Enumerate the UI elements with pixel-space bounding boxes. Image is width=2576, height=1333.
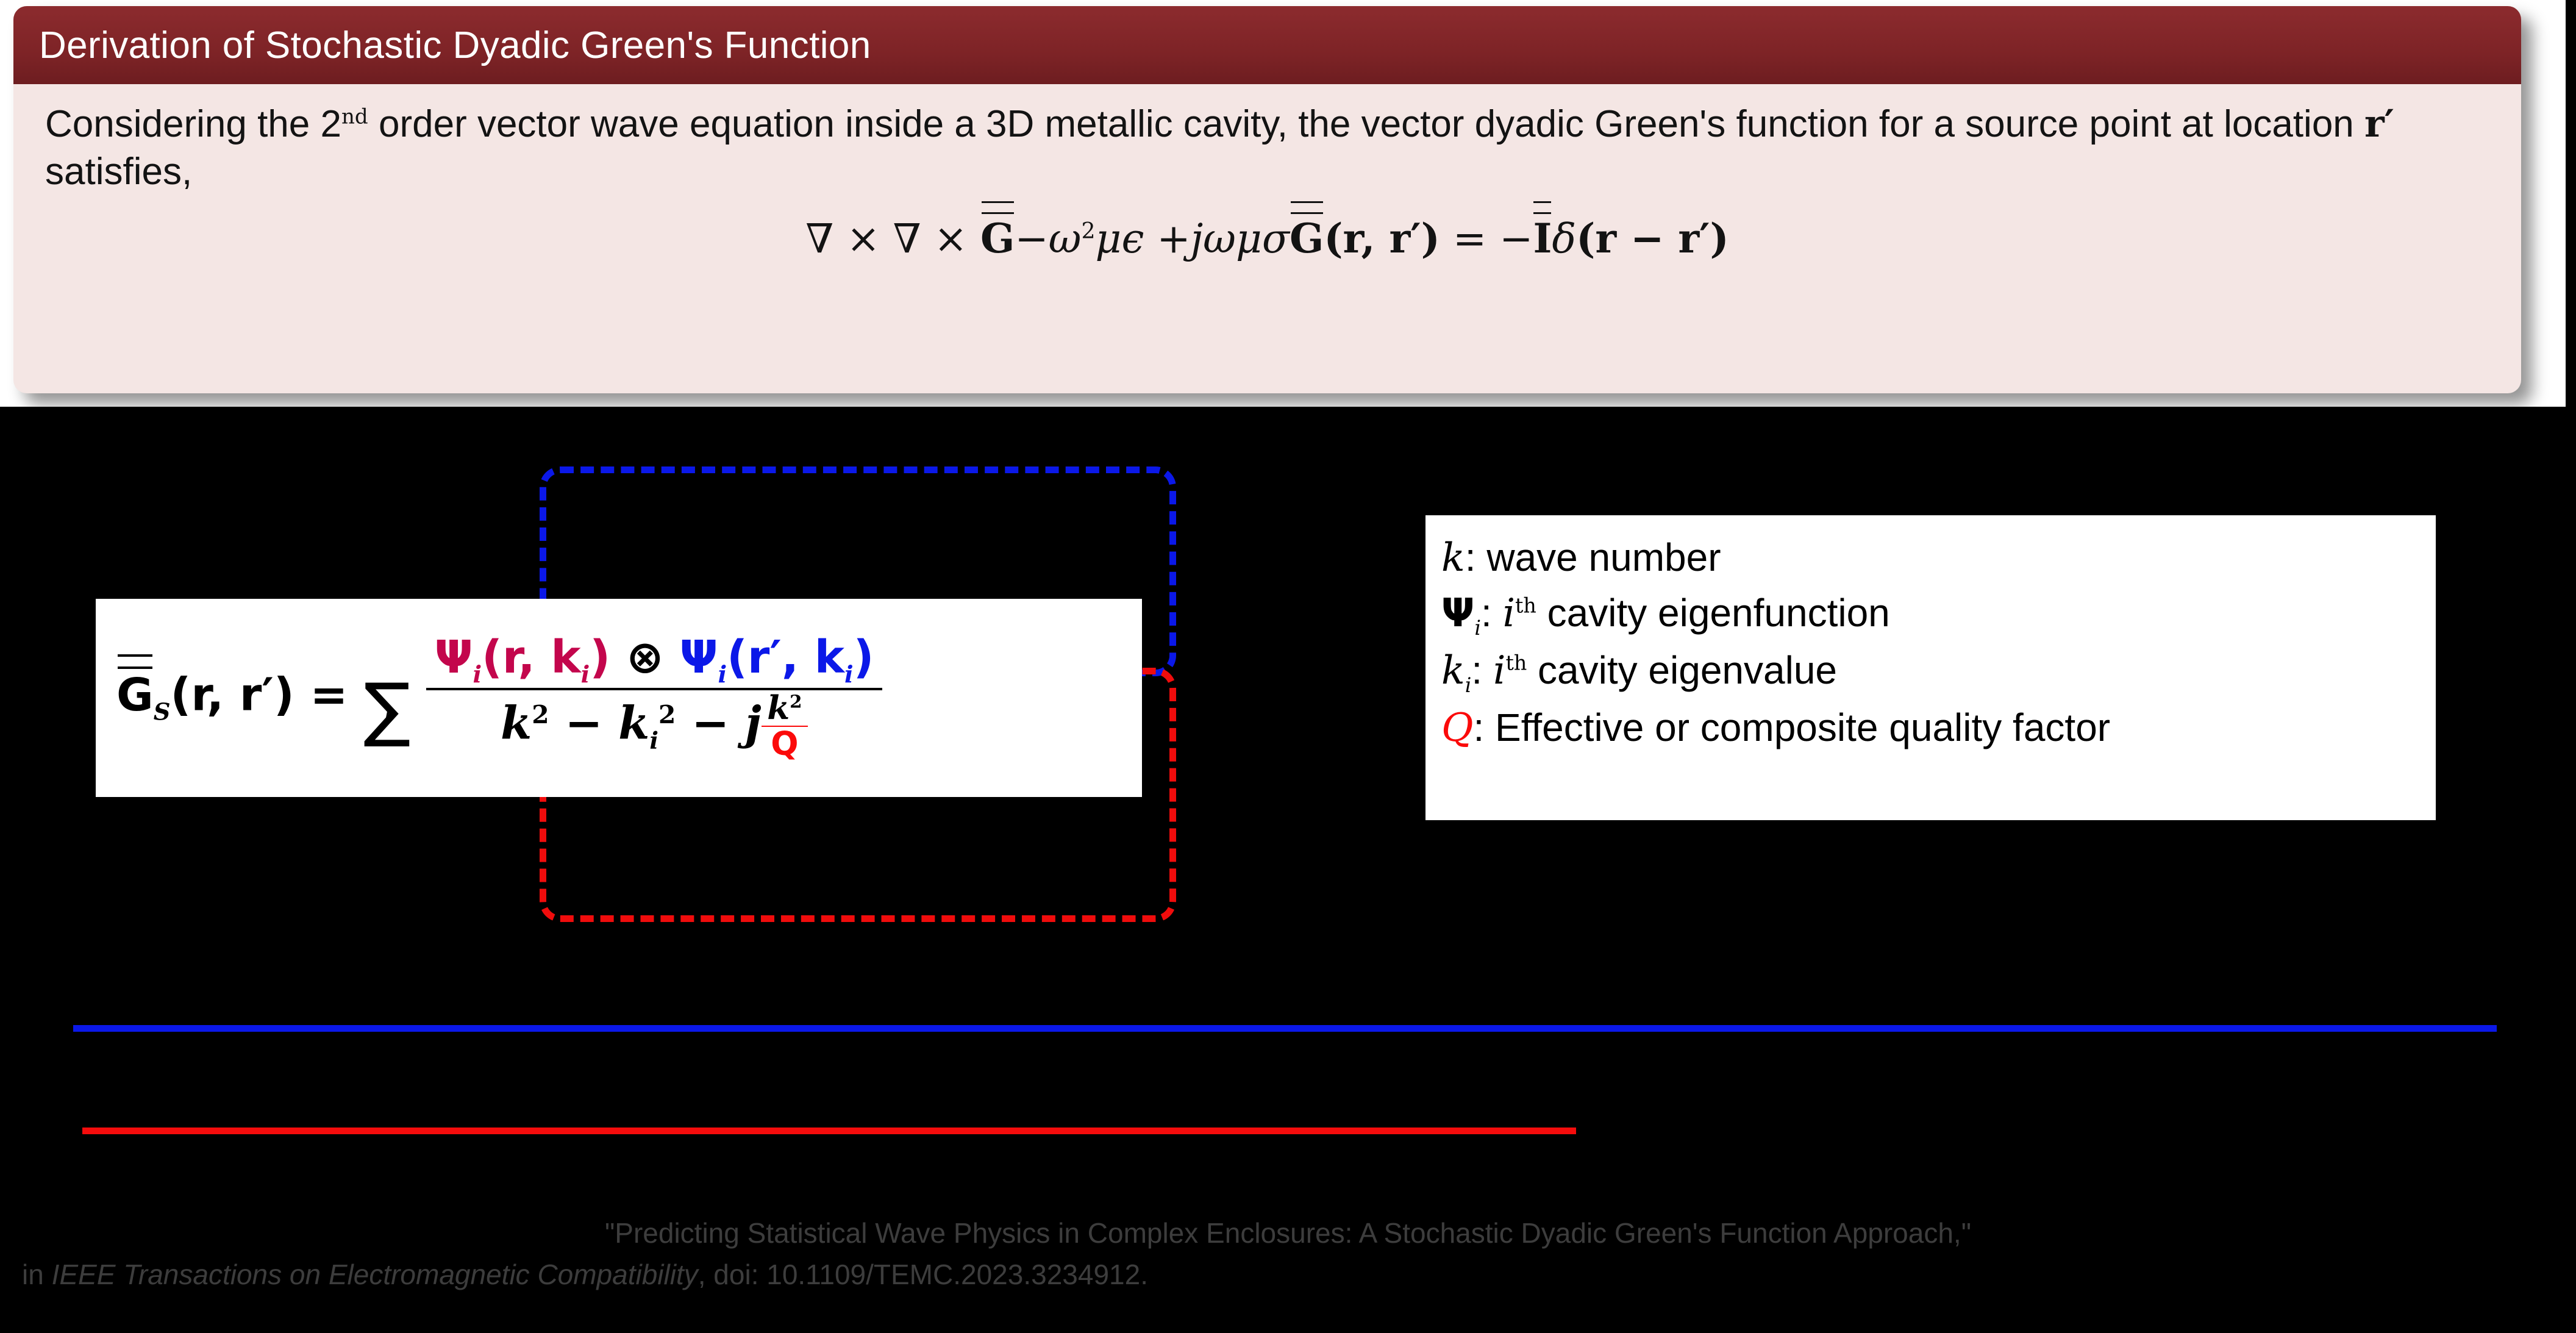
mu-epsilon: μϵ (1096, 215, 1144, 262)
legend-psi-index: i (1503, 591, 1515, 636)
rhs-sign: − (1499, 215, 1533, 262)
source-point-symbol: r′ (2364, 101, 2394, 146)
callout-header: Derivation of Stochastic Dyadic Green's … (13, 6, 2521, 84)
citation-title: "Predicting Statistical Wave Physics in … (0, 1217, 2576, 1249)
psi-right-subscript: i (718, 661, 727, 688)
callout-title: Derivation of Stochastic Dyadic Green's … (39, 24, 871, 67)
citation-journal: IEEE Transactions on Electromagnetic Com… (52, 1259, 698, 1290)
omega-symbol: ω (1049, 215, 1082, 262)
quality-factor-symbol: Q (762, 726, 808, 762)
curl-operator: ∇ × ∇ × (805, 215, 968, 262)
callout-block: Derivation of Stochastic Dyadic Green's … (13, 6, 2521, 393)
main-equation-equals: = (310, 669, 348, 721)
ki-exponent: 2 (658, 700, 676, 729)
legend-k-text: : wave number (1465, 535, 1721, 579)
dyadic-G-symbol: G (980, 213, 1015, 262)
psi-left-args: (r, k (482, 631, 581, 684)
legend-psi-colon: : (1481, 591, 1492, 635)
equation-plus: + (1157, 215, 1190, 262)
psi-right-args: (r′, k (727, 631, 844, 684)
psi-left-symbol: Ψ (435, 631, 473, 684)
k-squared-over-Q-fraction: k2Q (762, 690, 808, 762)
legend-item-wave-number: k: wave number (1441, 530, 2420, 585)
equation-args: (r, r′) (1324, 215, 1440, 262)
psi-left-subscript: i (473, 661, 482, 688)
identity-dyadic-symbol: I (1533, 213, 1552, 262)
psi-right-symbol: Ψ (680, 631, 718, 684)
legend-ki-subscript: i (1465, 673, 1472, 697)
paragraph-part3: satisfies, (45, 151, 192, 193)
equation-minus: − (1015, 215, 1048, 262)
psi-right-args-subscript: i (844, 661, 854, 688)
summation-index: i (384, 708, 390, 726)
callout-equation: ∇ × ∇ × G−ω2μϵ +jωμσG(r, r′) = −Iδ(r − r… (45, 213, 2489, 262)
paragraph-part2: order vector wave equation inside a 3D m… (368, 103, 2364, 145)
citation-source: in IEEE Transactions on Electromagnetic … (0, 1258, 2576, 1291)
k-symbol: k (501, 697, 532, 749)
denominator-minus-2: − (691, 697, 729, 749)
citation-prefix: in (22, 1259, 52, 1290)
legend-psi-text: cavity eigenfunction (1536, 591, 1890, 635)
legend-psi-symbol: Ψ (1441, 591, 1474, 636)
legend-psi-subscript: i (1474, 616, 1481, 640)
fraction-denominator: k2 − ki2 − jk2Q (426, 688, 882, 762)
legend-item-eigenvalue: ki: ith cavity eigenvalue (1441, 643, 2420, 700)
denominator-minus-1: − (565, 697, 602, 749)
red-underline-rule (82, 1128, 1576, 1134)
fraction-numerator: Ψi(r, ki) ⊗ Ψi(r′, ki) (426, 634, 882, 687)
imaginary-unit: j (745, 697, 762, 749)
legend-ki-colon: : (1471, 648, 1482, 692)
legend-item-eigenfunction: Ψi: ith cavity eigenfunction (1441, 585, 2420, 643)
legend-ki-symbol: k (1441, 648, 1465, 693)
delta-args: (r − r′) (1576, 215, 1729, 262)
legend-ki-ordinal: th (1505, 651, 1527, 675)
j-omega-mu-sigma: jωμσ (1191, 215, 1290, 262)
callout-paragraph: Considering the 2nd order vector wave eq… (45, 100, 2489, 195)
stochastic-G-subscript: S (154, 699, 171, 726)
equation-equals: = (1453, 215, 1486, 262)
main-equation-args: (r, r′) (171, 669, 294, 721)
ki-symbol: k (618, 697, 649, 749)
citation-doi: , doi: 10.1109/TEMC.2023.3234912. (698, 1259, 1148, 1290)
legend-k-symbol: k (1441, 535, 1465, 581)
legend-Q-text: : Effective or composite quality factor (1473, 706, 2110, 749)
callout-body: Considering the 2nd order vector wave eq… (13, 84, 2521, 262)
legend-ki-index: i (1493, 648, 1505, 693)
ordinal-suffix: nd (341, 104, 368, 129)
stochastic-G-symbol: G (116, 668, 154, 721)
ki-subscript: i (649, 727, 658, 754)
k-exponent: 2 (532, 700, 549, 729)
legend-ki-text: cavity eigenvalue (1527, 648, 1837, 692)
green-function-fraction: Ψi(r, ki) ⊗ Ψi(r′, ki) k2 − ki2 − jk2Q (426, 634, 882, 762)
kq-numerator: k2 (762, 690, 808, 726)
callout-frame: Derivation of Stochastic Dyadic Green's … (0, 0, 2566, 407)
psi-right-args-close: ) (854, 631, 874, 684)
summation-symbol: ∑i (363, 685, 410, 734)
footer-citation: "Predicting Statistical Wave Physics in … (0, 1217, 2576, 1291)
dyadic-G-symbol-2: G (1290, 213, 1324, 262)
blue-underline-rule (73, 1025, 2497, 1032)
legend-Q-symbol: Q (1441, 706, 1473, 751)
omega-exponent: 2 (1081, 218, 1095, 244)
paragraph-part1: Considering the 2 (45, 103, 341, 145)
legend-psi-ordinal: th (1515, 594, 1536, 618)
main-equation-panel: GS(r, r′) = ∑i Ψi(r, ki) ⊗ Ψi(r′, ki) k2… (96, 599, 1142, 797)
main-equation: GS(r, r′) = ∑i Ψi(r, ki) ⊗ Ψi(r′, ki) k2… (96, 634, 882, 762)
legend-panel: k: wave number Ψi: ith cavity eigenfunct… (1425, 515, 2436, 820)
tensor-product-icon: ⊗ (626, 631, 664, 684)
psi-left-args-close: ) (590, 631, 610, 684)
legend-item-quality-factor: Q: Effective or composite quality factor (1441, 700, 2420, 756)
delta-symbol: δ (1552, 215, 1576, 262)
psi-left-args-subscript: i (581, 661, 590, 688)
